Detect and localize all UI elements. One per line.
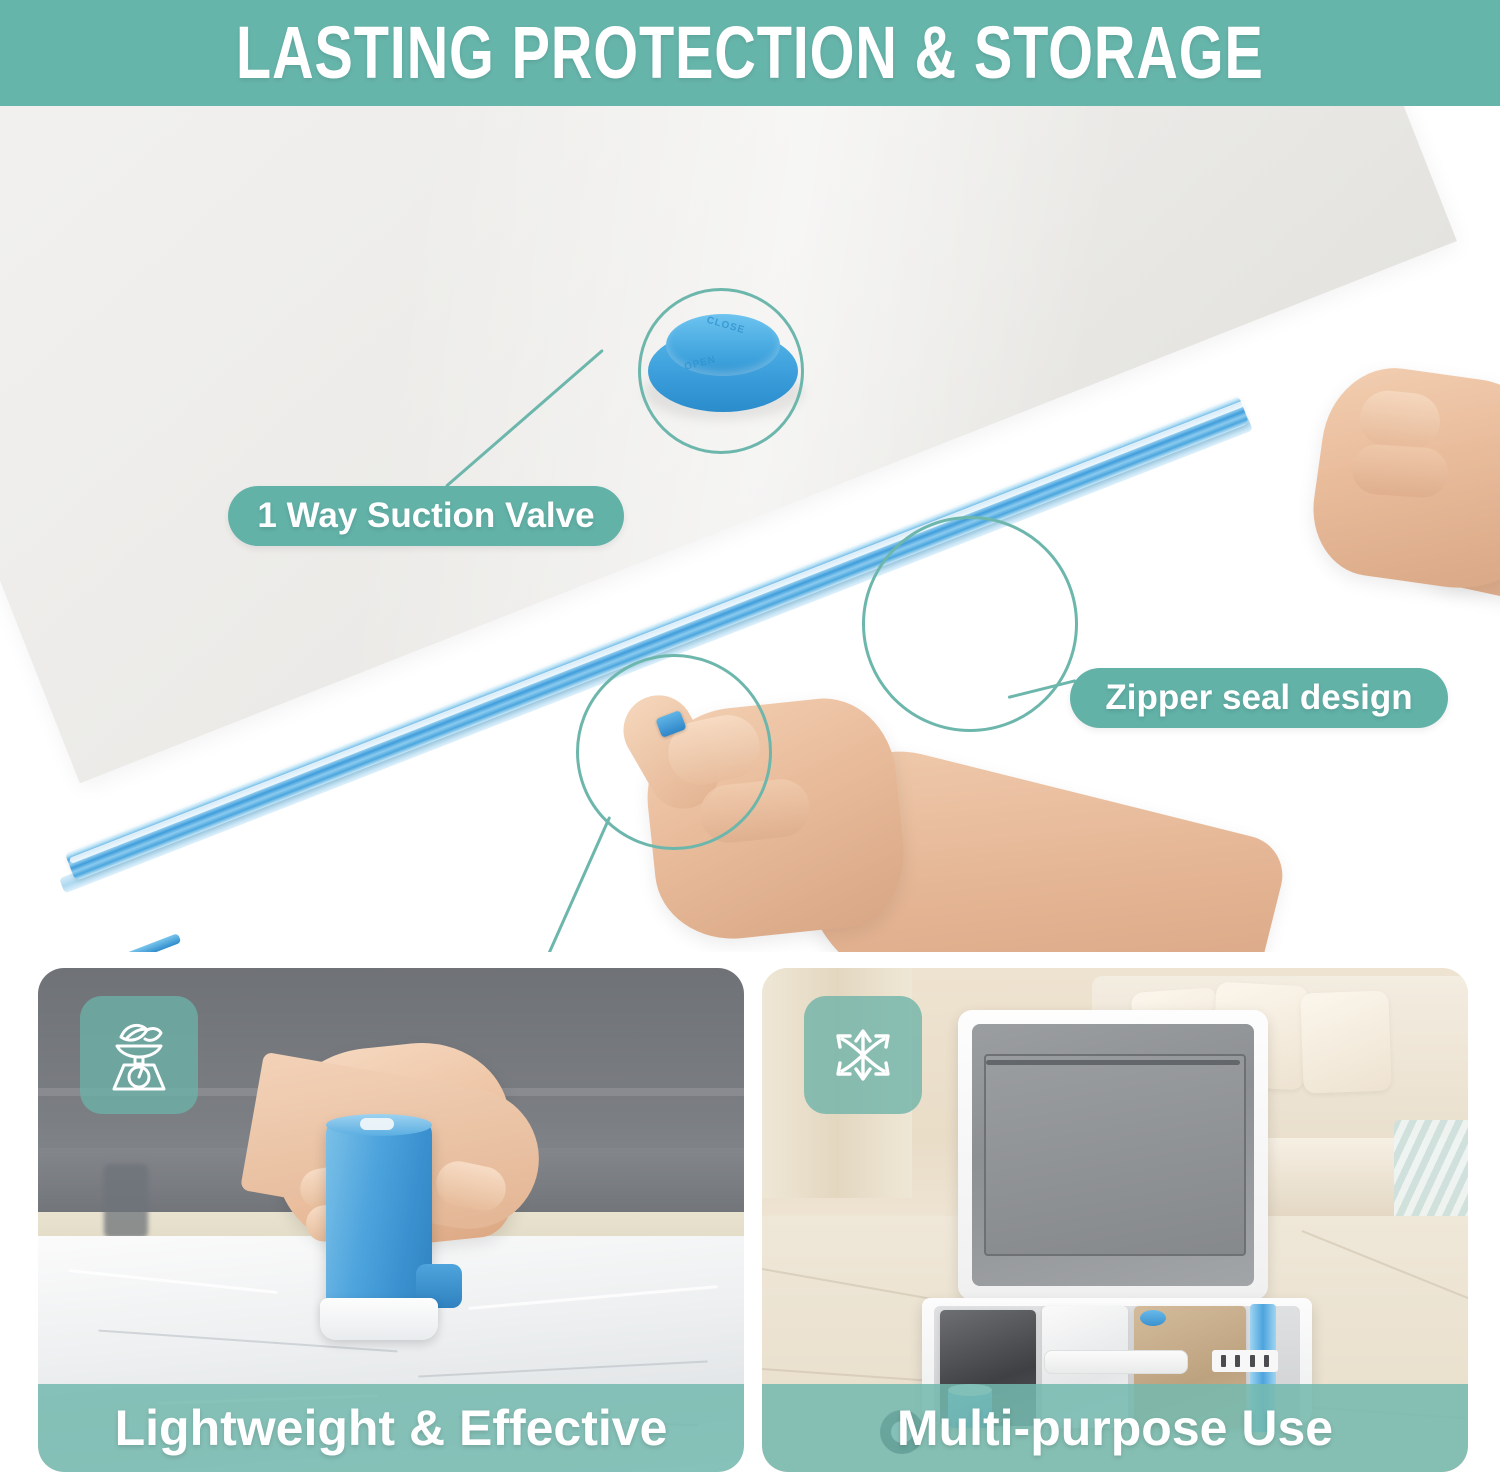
caption-lightweight: Lightweight & Effective	[38, 1384, 744, 1472]
caption-lightweight-text: Lightweight & Effective	[115, 1399, 668, 1457]
lock-dial	[1235, 1355, 1240, 1367]
caption-multi-purpose: Multi-purpose Use	[762, 1384, 1468, 1472]
pump-power-button[interactable]	[360, 1118, 394, 1130]
packed-bag-valve	[1140, 1310, 1166, 1326]
zipper-pull-tab-bar	[109, 933, 182, 952]
right-hand-fingers	[1350, 443, 1449, 500]
hero-image: CLOSE OPEN 1 Way Suction Valve Zipper se…	[0, 106, 1500, 952]
header-banner: LASTING PROTECTION & STORAGE	[0, 0, 1500, 106]
suitcase-mesh-pocket	[984, 1054, 1246, 1256]
label-zipper-seal-design-text: Zipper seal design	[1105, 678, 1412, 718]
leader-line-full-zipper-seal	[547, 816, 612, 952]
suitcase-pocket-zipper	[986, 1060, 1240, 1065]
label-suction-valve-text: 1 Way Suction Valve	[257, 496, 594, 536]
label-zipper-seal-design: Zipper seal design	[1070, 668, 1448, 728]
badge-multi-purpose	[804, 996, 922, 1114]
lock-dial	[1264, 1355, 1269, 1367]
caption-multi-purpose-text: Multi-purpose Use	[897, 1399, 1333, 1457]
panel-lightweight: Lightweight & Effective	[38, 968, 744, 1472]
badge-lightweight	[80, 996, 198, 1114]
callout-circle-suction-valve	[638, 288, 804, 454]
suitcase-handle	[1044, 1350, 1188, 1374]
background-object	[104, 1164, 148, 1238]
lock-dial	[1221, 1355, 1226, 1367]
multi-direction-arrows-icon	[820, 1012, 906, 1098]
product-infographic: LASTING PROTECTION & STORAGE CLOSE OPEN	[0, 0, 1500, 1478]
label-suction-valve: 1 Way Suction Valve	[228, 486, 624, 546]
lock-dial	[1250, 1355, 1255, 1367]
panel-multi-purpose: Multi-purpose Use	[762, 968, 1468, 1472]
scale-feather-icon	[97, 1013, 181, 1097]
callout-circle-zipper-seal-design	[862, 516, 1078, 732]
suitcase-combination-lock	[1212, 1350, 1278, 1372]
pump-base	[320, 1298, 438, 1340]
page-title: LASTING PROTECTION & STORAGE	[236, 16, 1264, 90]
pillow	[1300, 990, 1391, 1093]
